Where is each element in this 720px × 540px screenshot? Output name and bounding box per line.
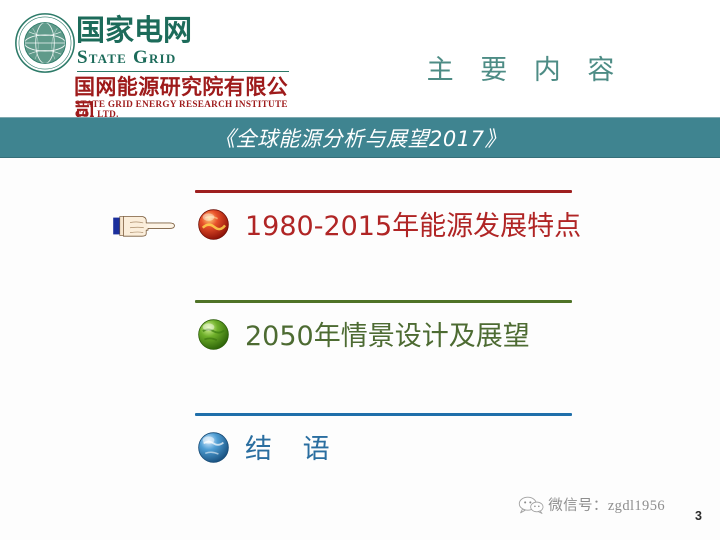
green-globe-bullet-icon [197,318,230,351]
section-banner: 《全球能源分析与展望2017》 [0,117,720,158]
section-banner-title: 《全球能源分析与展望2017》 [214,123,506,153]
agenda-item-3-label: 结 语 [245,427,341,466]
wechat-watermark: 微信号：zgdl1956 [518,494,665,515]
page-number: 3 [695,509,702,523]
institute-name-english: STATE GRID ENERGY RESEARCH INSTITUTE CO.… [75,99,298,119]
logo-divider [77,71,289,72]
agenda-item-2[interactable]: 2050年情景设计及展望 [0,300,720,410]
agenda-item-1-label: 1980-2015年能源发展特点 [245,204,581,243]
agenda-list: 1980-2015年能源发展特点 2050年情景设计及展望 [0,158,720,488]
state-grid-globe-emblem-icon [14,12,76,74]
agenda-item-2-label: 2050年情景设计及展望 [245,314,530,353]
slide-header: 国家电网 State Grid 国网能源研究院有限公司 STATE GRID E… [0,0,720,117]
agenda-item-2-rule [195,300,572,303]
blue-globe-bullet-icon [197,431,230,464]
agenda-item-1[interactable]: 1980-2015年能源发展特点 [0,190,720,300]
company-logo-block: 国家电网 State Grid 国网能源研究院有限公司 STATE GRID E… [8,6,298,110]
slide-footer: 微信号：zgdl1956 3 [0,488,720,540]
presentation-slide: 国家电网 State Grid 国网能源研究院有限公司 STATE GRID E… [0,0,720,540]
page-title: 主 要 内 容 [400,48,650,87]
agenda-item-3-rule [195,413,572,416]
wechat-bubble-icon [518,496,544,514]
brand-name-chinese: 国家电网 [76,14,192,46]
red-globe-bullet-icon [197,208,230,241]
wechat-id-text: 微信号：zgdl1956 [548,494,665,515]
pointing-hand-icon [112,208,178,244]
brand-name-english: State Grid [77,47,176,69]
agenda-item-1-rule [195,190,572,193]
